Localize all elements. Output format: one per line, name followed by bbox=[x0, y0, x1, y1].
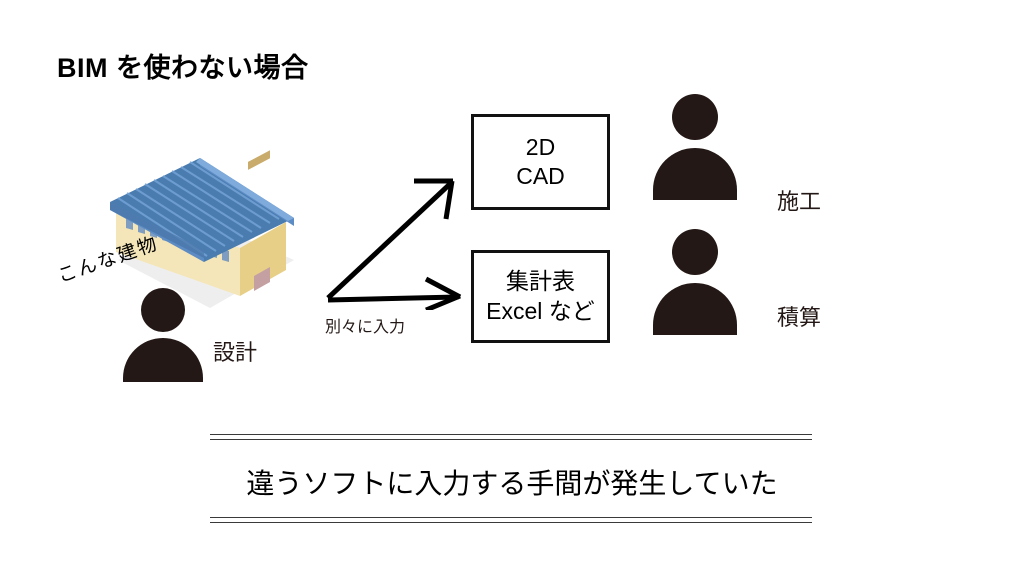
footer-caption: 違うソフトに入力する手間が発生していた bbox=[0, 462, 1024, 502]
person-body-icon bbox=[653, 148, 737, 200]
slide-canvas: BIM を使わない場合 bbox=[0, 0, 1024, 569]
page-title: BIM を使わない場合 bbox=[57, 46, 309, 85]
divider-top bbox=[210, 434, 812, 440]
box-excel[interactable]: 集計表 Excel など bbox=[471, 250, 610, 343]
box-excel-line-1: 集計表 bbox=[506, 267, 575, 296]
person-body-icon bbox=[653, 283, 737, 335]
box-2d-cad-line-1: 2D bbox=[526, 133, 555, 162]
person-icon-designer bbox=[120, 288, 206, 380]
box-excel-line-2: Excel など bbox=[486, 297, 595, 326]
person-head-icon bbox=[672, 229, 718, 275]
person-icon-estimation bbox=[645, 229, 745, 337]
label-construction: 施工 bbox=[777, 184, 821, 216]
box-2d-cad-line-2: CAD bbox=[516, 162, 565, 191]
person-head-icon bbox=[672, 94, 718, 140]
arrow-group bbox=[318, 165, 468, 310]
building-illustration bbox=[88, 148, 298, 308]
person-head-icon bbox=[141, 288, 185, 332]
arrow-label: 別々に入力 bbox=[325, 313, 405, 337]
person-icon-construction bbox=[645, 94, 745, 202]
divider-bottom bbox=[210, 517, 812, 523]
label-designer: 設計 bbox=[213, 335, 257, 367]
box-2d-cad[interactable]: 2D CAD bbox=[471, 114, 610, 210]
label-estimation: 積算 bbox=[777, 300, 821, 332]
person-body-icon bbox=[123, 338, 203, 382]
